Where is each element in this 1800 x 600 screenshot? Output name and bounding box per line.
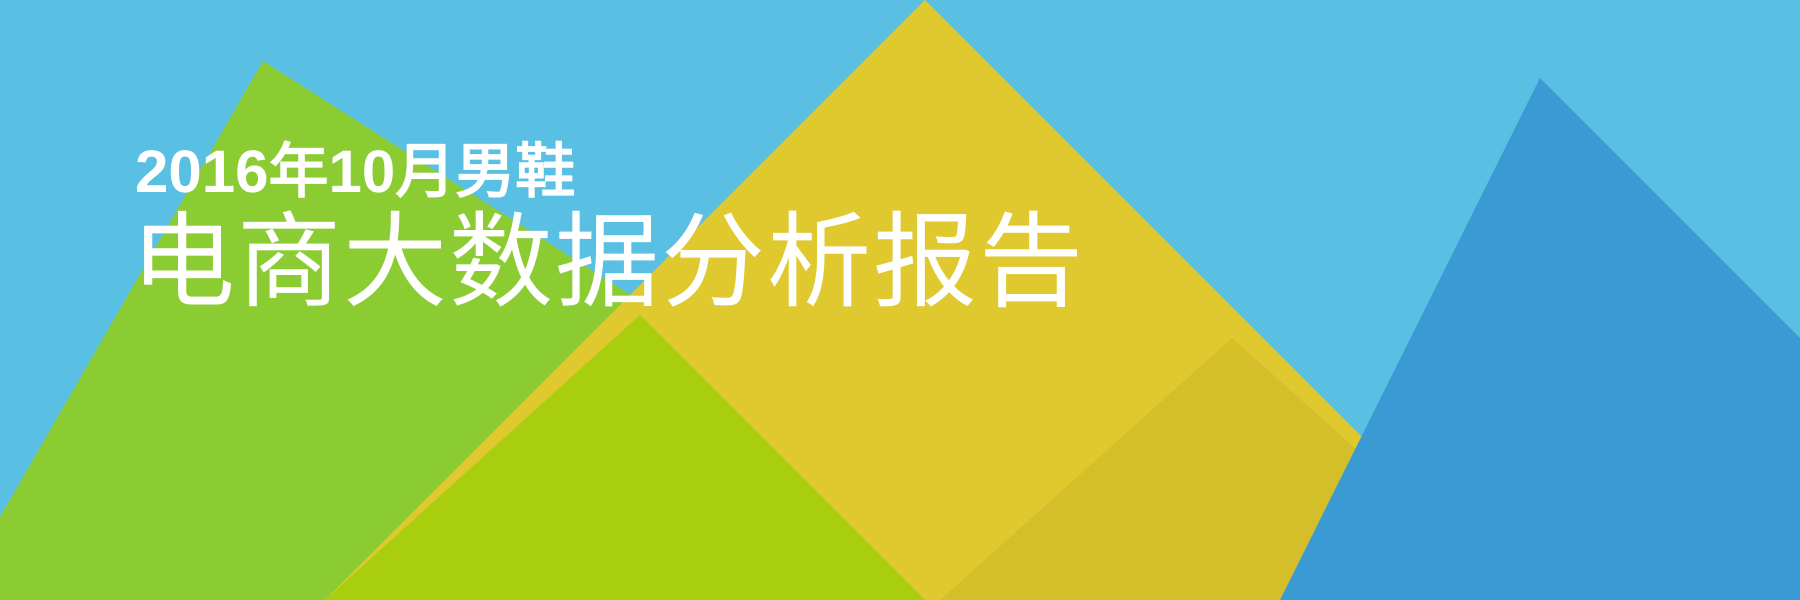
page-title-main-line: 电商大数据分析报告 [131,207,1235,319]
report-cover-slide: 2016年10月男鞋 电商大数据分析报告 [0,0,1800,600]
cover-title-block: 2016年10月男鞋 电商大数据分析报告 [135,140,1235,319]
page-title-subtitle-line: 2016年10月男鞋 [135,140,1235,203]
